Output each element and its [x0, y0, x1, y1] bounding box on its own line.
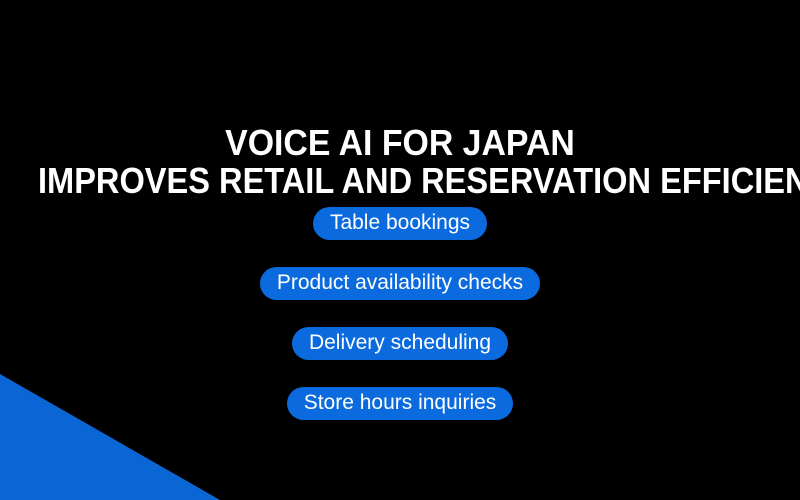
page-title: Voice AI for Japan improves retail and r… [0, 124, 800, 200]
use-case-pill-list: Table bookings Product availability chec… [0, 207, 800, 420]
use-case-pill[interactable]: Store hours inquiries [287, 387, 514, 420]
headline-line-1: Voice AI for Japan [24, 124, 776, 162]
headline-line-2: improves retail and reservation efficien… [38, 162, 762, 200]
slide-canvas: Voice AI for Japan improves retail and r… [0, 0, 800, 500]
use-case-pill[interactable]: Table bookings [313, 207, 487, 240]
use-case-pill[interactable]: Delivery scheduling [292, 327, 508, 360]
use-case-pill-label: Table bookings [330, 212, 470, 233]
use-case-pill-label: Store hours inquiries [304, 392, 497, 413]
use-case-pill-label: Delivery scheduling [309, 332, 491, 353]
use-case-pill-label: Product availability checks [277, 272, 523, 293]
use-case-pill[interactable]: Product availability checks [260, 267, 540, 300]
